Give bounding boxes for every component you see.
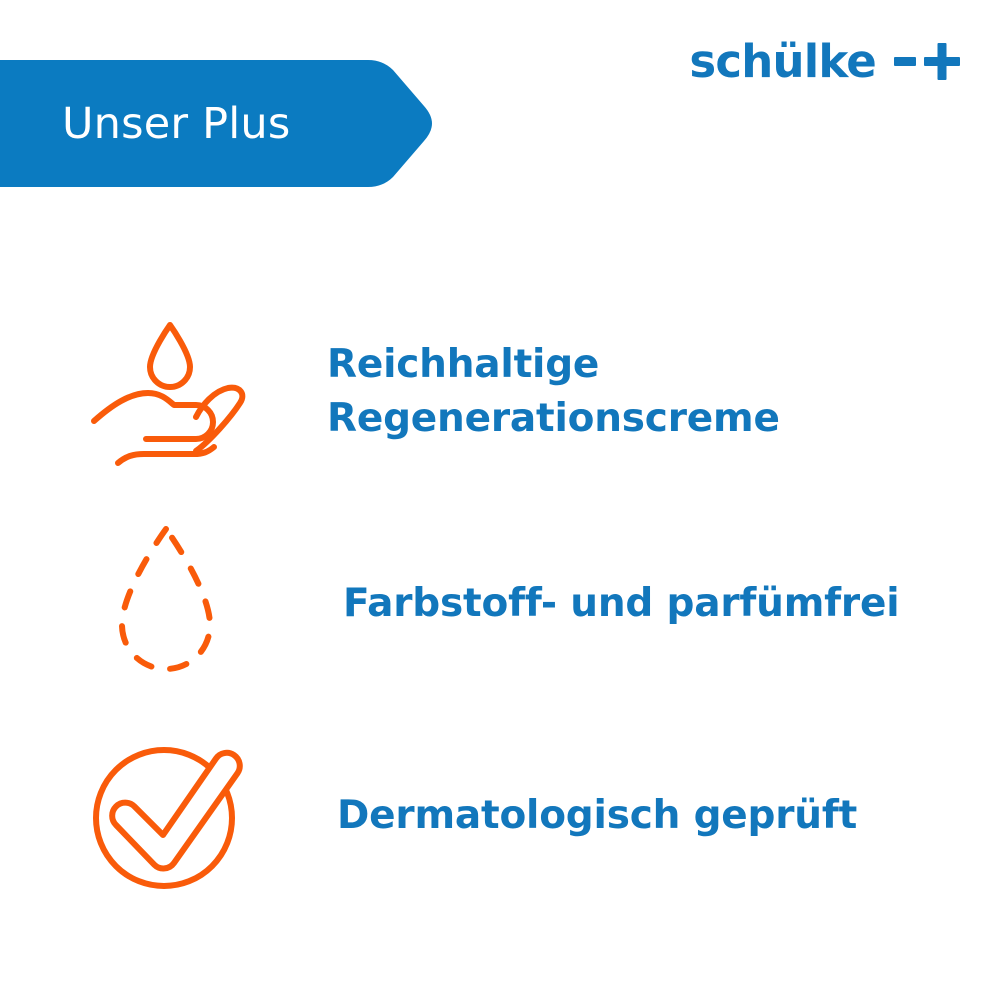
feature-list: Reichhaltige Regenerationscreme Farbstof… (0, 286, 1000, 922)
dashed-droplet-icon (98, 509, 278, 699)
brand-wordmark: schülke (689, 39, 876, 84)
hand-with-droplet-glyph (82, 305, 262, 480)
brand-logo: schülke (689, 38, 960, 84)
unser-plus-infographic: schülke Unser Plus (0, 0, 1000, 1000)
check-circle-glyph (92, 734, 257, 899)
feature-row: Farbstoff- und parfümfrei (0, 498, 1000, 710)
check-circle-icon (92, 721, 272, 911)
feature-label: Dermatologisch geprüft (337, 789, 857, 843)
banner: Unser Plus (0, 60, 432, 187)
hand-with-droplet-icon (82, 297, 262, 487)
feature-label: Farbstoff- und parfümfrei (343, 577, 899, 631)
feature-label: Reichhaltige Regenerationscreme (327, 338, 780, 446)
feature-row: Dermatologisch geprüft (0, 710, 1000, 922)
dashed-droplet-glyph (98, 517, 248, 692)
dash-plus-logo-mark-icon (894, 38, 960, 84)
banner-title: Unser Plus (62, 60, 290, 187)
feature-row: Reichhaltige Regenerationscreme (0, 286, 1000, 498)
